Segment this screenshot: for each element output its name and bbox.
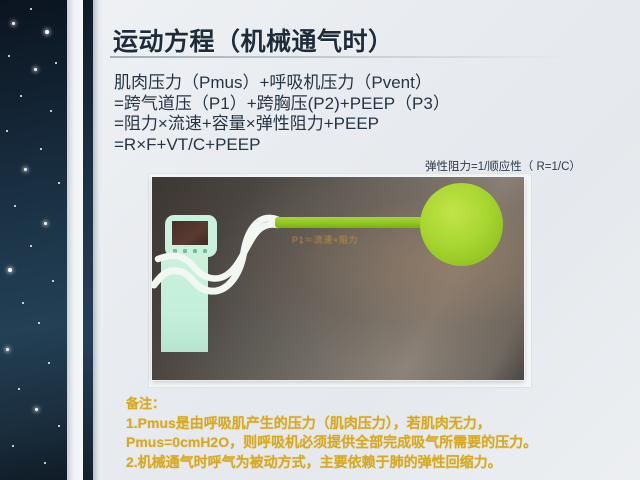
divider-band-dark (83, 0, 93, 480)
breathing-circuit-tubing-icon (152, 207, 292, 317)
equation-block: 肌肉压力（Pmus）+呼吸机压力（Pvent） =跨气道压（P1）+跨胸压(P2… (114, 73, 634, 155)
remark-line-3: 2.机械通气时呼气为被动方式，主要依赖于肺的弹性回缩力。 (126, 453, 636, 473)
remark-line-1: 1.Pmus是由呼吸肌产生的压力（肌肉压力），若肌肉无力， (126, 414, 636, 434)
lung-alveolus (420, 183, 503, 266)
page-title: 运动方程（机械通气时） (113, 22, 394, 58)
starfield-decoration (0, 0, 67, 480)
remark-line-2: Pmus=0cmH2O，则呼吸机必须提供全部完成吸气所需要的压力。 (126, 433, 636, 453)
remarks-block: 备注： 1.Pmus是由呼吸肌产生的压力（肌肉压力），若肌肉无力， Pmus=0… (126, 394, 636, 472)
equation-line-1: 肌肉压力（Pmus）+呼吸机压力（Pvent） (114, 73, 634, 94)
ventilation-diagram-photo: P1＝流速×阻力 (152, 177, 524, 380)
title-underline (110, 56, 572, 58)
divider-band-light-inner (93, 0, 103, 480)
slide-content-panel: 运动方程（机械通气时） 肌肉压力（Pmus）+呼吸机压力（Pvent） =跨气道… (103, 0, 640, 480)
airway-pressure-label: P1＝流速×阻力 (292, 233, 358, 246)
equation-line-4: =R×F+VT/C+PEEP (114, 135, 634, 156)
remark-heading: 备注： (126, 394, 636, 414)
divider-band-light-outer (67, 0, 83, 480)
equation-line-3: =阻力×流速+容量×弹性阻力+PEEP (114, 114, 634, 135)
elastance-side-note: 弹性阻力=1/顺应性（ R=1/C） (425, 158, 581, 174)
slide-canvas: 运动方程（机械通气时） 肌肉压力（Pmus）+呼吸机压力（Pvent） =跨气道… (0, 0, 640, 480)
equation-line-2: =跨气道压（P1）+跨胸压(P2)+PEEP（P3） (114, 94, 634, 115)
